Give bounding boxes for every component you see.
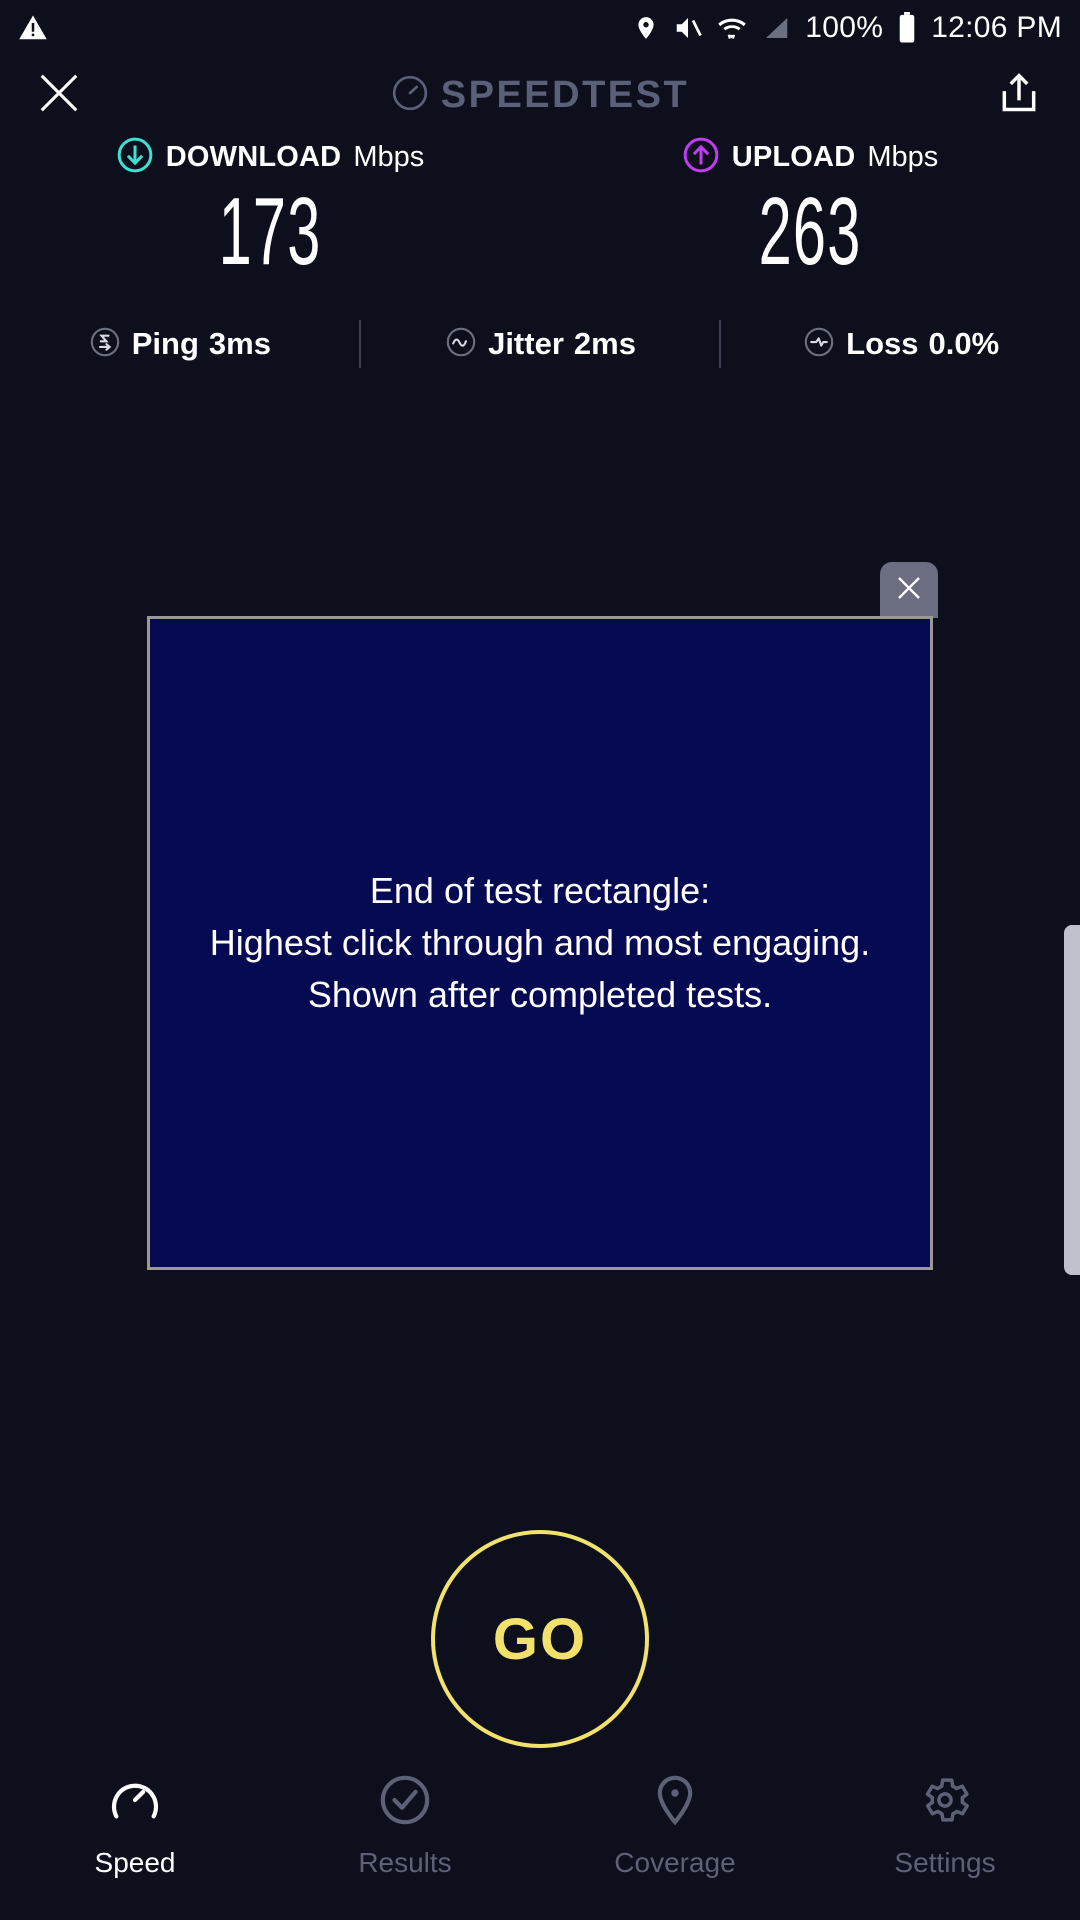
download-result: DOWNLOAD Mbps 173 <box>0 134 540 280</box>
share-icon <box>997 71 1041 120</box>
jitter-icon <box>444 325 478 364</box>
upload-arrow-icon <box>682 136 720 179</box>
status-bar-clock: 12:06 PM <box>931 11 1062 45</box>
status-bar-right: 100% 12:06 PM <box>633 11 1062 45</box>
nav-item-speed[interactable]: Speed <box>0 1772 270 1879</box>
speed-row: DOWNLOAD Mbps 173 UPLOAD Mbps 263 <box>0 134 1080 280</box>
status-bar: 100% 12:06 PM <box>0 0 1080 56</box>
ad-line-3: Shown after completed tests. <box>210 969 870 1021</box>
location-pin-icon <box>647 1772 703 1833</box>
upload-header: UPLOAD Mbps <box>682 134 939 180</box>
ping-icon <box>88 325 122 364</box>
download-value: 173 <box>218 184 321 280</box>
ping-value: 3ms <box>209 326 271 362</box>
go-button-label: GO <box>493 1606 587 1673</box>
ad-line-1: End of test rectangle: <box>210 865 870 917</box>
app-header: SPEEDTEST <box>0 56 1080 134</box>
ad-close-button[interactable] <box>880 562 938 618</box>
cell-signal-icon <box>761 13 791 43</box>
ad-text: End of test rectangle: Highest click thr… <box>210 865 870 1022</box>
close-icon <box>36 70 82 121</box>
battery-percent: 100% <box>805 11 883 45</box>
warning-triangle-icon <box>18 13 48 43</box>
nav-label-coverage: Coverage <box>614 1847 735 1879</box>
jitter-value: 2ms <box>574 326 636 362</box>
loss-icon <box>802 325 836 364</box>
wifi-icon <box>717 13 747 43</box>
ping-stat: Ping 3ms <box>0 325 359 364</box>
results-summary: DOWNLOAD Mbps 173 UPLOAD Mbps 263 <box>0 134 1080 280</box>
bottom-navigation: Speed Results Coverage Settings <box>0 1760 1080 1920</box>
latency-stats-row: Ping 3ms Jitter 2ms Loss 0.0% <box>0 314 1080 374</box>
upload-unit: Mbps <box>867 141 938 174</box>
share-button[interactable] <box>990 66 1048 124</box>
app-brand: SPEEDTEST <box>391 74 689 117</box>
close-button[interactable] <box>30 66 88 124</box>
nav-item-coverage[interactable]: Coverage <box>540 1772 810 1879</box>
speedtest-app: 100% 12:06 PM SPEEDTEST <box>0 0 1080 1920</box>
ad-banner[interactable]: End of test rectangle: Highest click thr… <box>147 616 933 1270</box>
speedometer-icon <box>391 74 429 117</box>
close-icon <box>894 573 924 608</box>
upload-value: 263 <box>758 184 861 280</box>
battery-full-icon <box>897 12 917 44</box>
nav-label-results: Results <box>358 1847 451 1879</box>
gear-icon <box>917 1772 973 1833</box>
loss-label: Loss <box>846 326 918 362</box>
mute-icon <box>673 13 703 43</box>
ad-line-2: Highest click through and most engaging. <box>210 917 870 969</box>
page-title: SPEEDTEST <box>441 74 689 117</box>
nav-item-settings[interactable]: Settings <box>810 1772 1080 1879</box>
loss-stat: Loss 0.0% <box>721 325 1080 364</box>
download-label: DOWNLOAD <box>166 141 342 174</box>
check-circle-icon <box>377 1772 433 1833</box>
go-button[interactable]: GO <box>431 1530 649 1748</box>
location-pin-icon <box>633 13 659 43</box>
download-unit: Mbps <box>353 141 424 174</box>
upload-result: UPLOAD Mbps 263 <box>540 134 1080 280</box>
speedometer-icon <box>107 1772 163 1833</box>
jitter-stat: Jitter 2ms <box>361 325 720 364</box>
upload-label: UPLOAD <box>732 141 856 174</box>
loss-value: 0.0% <box>929 326 1000 362</box>
nav-label-settings: Settings <box>894 1847 995 1879</box>
scrollbar[interactable] <box>1064 925 1080 1275</box>
nav-item-results[interactable]: Results <box>270 1772 540 1879</box>
ping-label: Ping <box>132 326 199 362</box>
download-header: DOWNLOAD Mbps <box>116 134 425 180</box>
status-bar-left <box>18 13 48 43</box>
jitter-label: Jitter <box>488 326 564 362</box>
download-arrow-icon <box>116 136 154 179</box>
nav-label-speed: Speed <box>95 1847 176 1879</box>
